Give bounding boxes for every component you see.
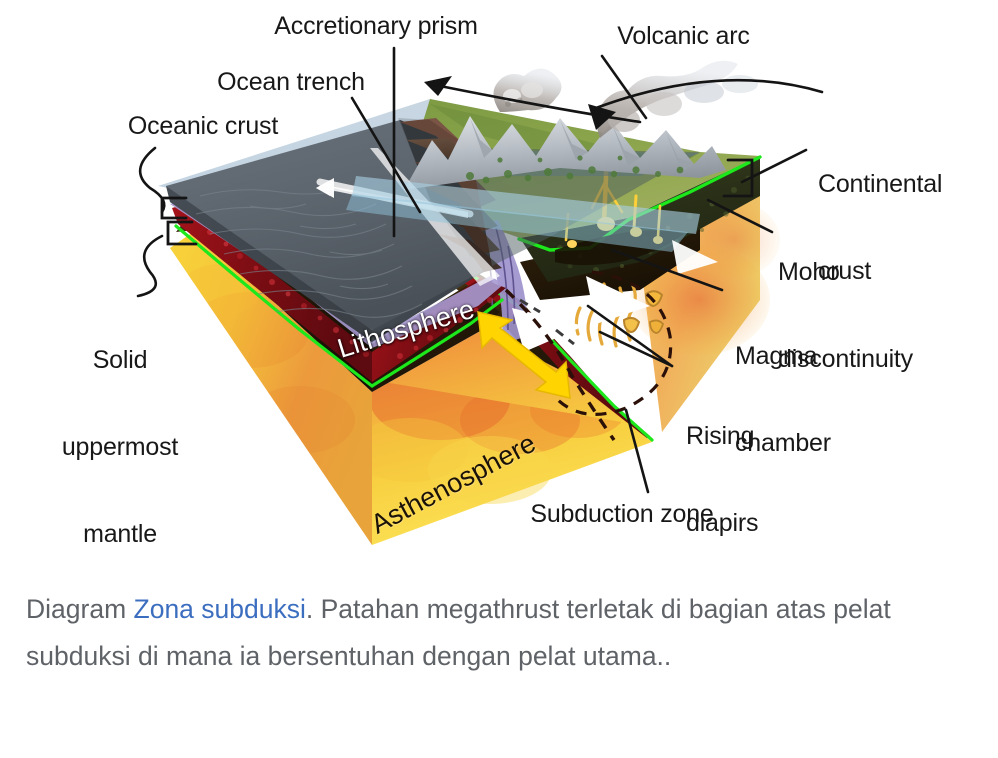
label-oceanic-crust: Oceanic crust [103,112,303,141]
label-moho-line1: Moho [778,258,993,287]
label-mantle-line1: Solid [20,346,220,375]
arrowhead-volcanic-arc-2 [424,76,452,96]
label-diapirs-line1: Rising [686,422,846,451]
label-subduction-zone: Subduction zone [498,500,746,529]
caption-prefix: Diagram [26,594,134,624]
label-accretionary-prism: Accretionary prism [247,12,505,41]
label-volcanic-arc: Volcanic arc [596,22,771,51]
label-solid-uppermost-mantle: Solid uppermost mantle [20,288,220,607]
label-mantle-line3: mantle [20,520,220,549]
leader-uppermost-mantle [138,236,162,296]
label-rising-diapirs: Rising diapirs [686,364,846,596]
label-ocean-trench: Ocean trench [196,68,386,97]
subduction-zone-diagram: Accretionary prism Ocean trench Oceanic … [0,0,998,565]
volcano-plume-left [493,68,561,112]
leader-subduction-zone [626,410,648,492]
page-root: Accretionary prism Ocean trench Oceanic … [0,0,998,758]
figure-caption: Diagram Zona subduksi. Patahan megathrus… [26,586,972,680]
label-mantle-line2: uppermost [20,433,220,462]
label-continental-crust-line1: Continental [818,170,993,199]
caption-link-zona-subduksi[interactable]: Zona subduksi [134,594,306,624]
